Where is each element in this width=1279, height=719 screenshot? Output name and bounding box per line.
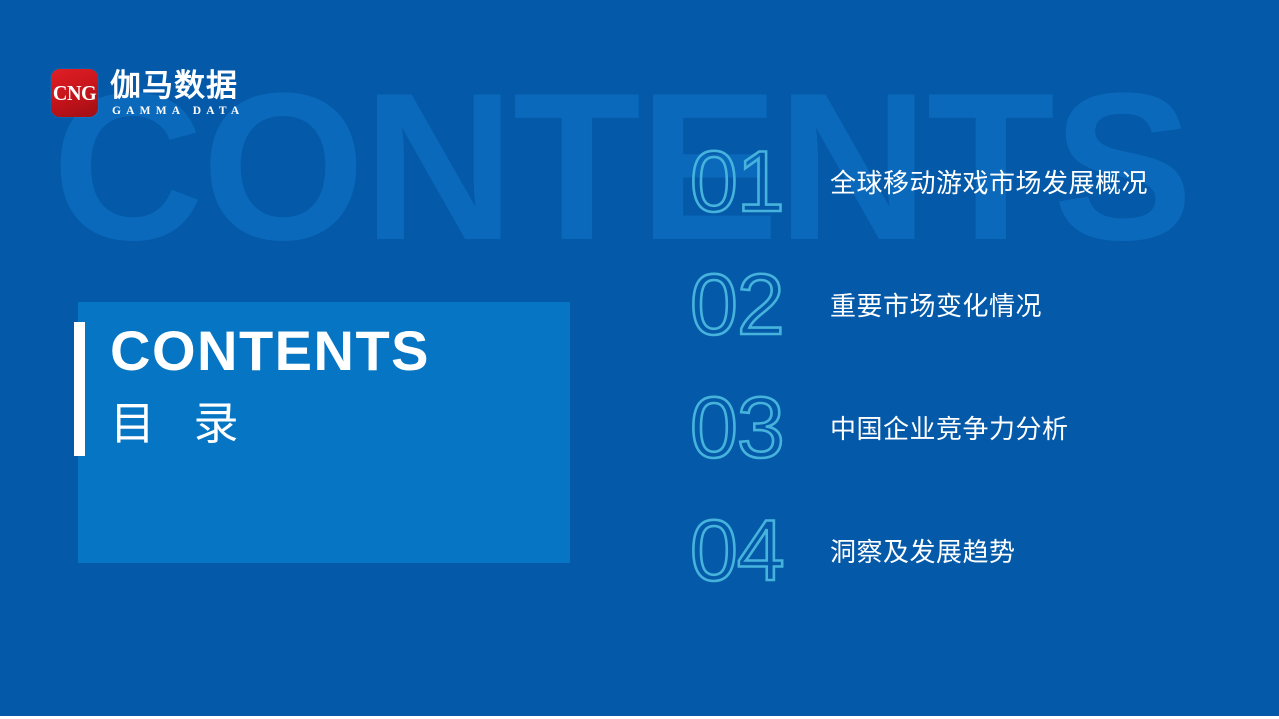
agenda-list: 01 全球移动游戏市场发展概况 02 重要市场变化情况 03 中国企业竞争力分析… [690,120,1230,612]
panel-title-chinese: 目 录 [110,401,252,446]
brand-logo: CNG 伽马数据 GAMMA DATA [51,69,244,117]
agenda-number-01: 01 [690,139,815,225]
contents-panel: CONTENTS 目 录 [78,302,570,563]
agenda-number-02: 02 [690,262,815,348]
agenda-label-01: 全球移动游戏市场发展概况 [830,163,1148,200]
presentation-slide: CONTENTS CNG 伽马数据 GAMMA DATA CONTENTS 目 … [0,0,1279,719]
brand-name-block: 伽马数据 GAMMA DATA [110,69,244,117]
brand-name-english: GAMMA DATA [110,105,244,117]
agenda-number-03: 03 [690,385,815,471]
agenda-label-04: 洞察及发展趋势 [830,532,1016,569]
agenda-label-02: 重要市场变化情况 [830,286,1042,323]
cng-logo-icon: CNG [51,69,98,117]
agenda-number-04: 04 [690,508,815,594]
panel-title-english: CONTENTS [110,323,430,379]
agenda-item-04[interactable]: 04 洞察及发展趋势 [690,489,1230,612]
cng-logo-text: CNG [53,83,96,104]
agenda-label-03: 中国企业竞争力分析 [830,409,1069,446]
panel-accent-bar [74,322,85,456]
agenda-item-02[interactable]: 02 重要市场变化情况 [690,243,1230,366]
agenda-item-01[interactable]: 01 全球移动游戏市场发展概况 [690,120,1230,243]
agenda-item-03[interactable]: 03 中国企业竞争力分析 [690,366,1230,489]
brand-name-chinese: 伽马数据 [110,70,244,102]
